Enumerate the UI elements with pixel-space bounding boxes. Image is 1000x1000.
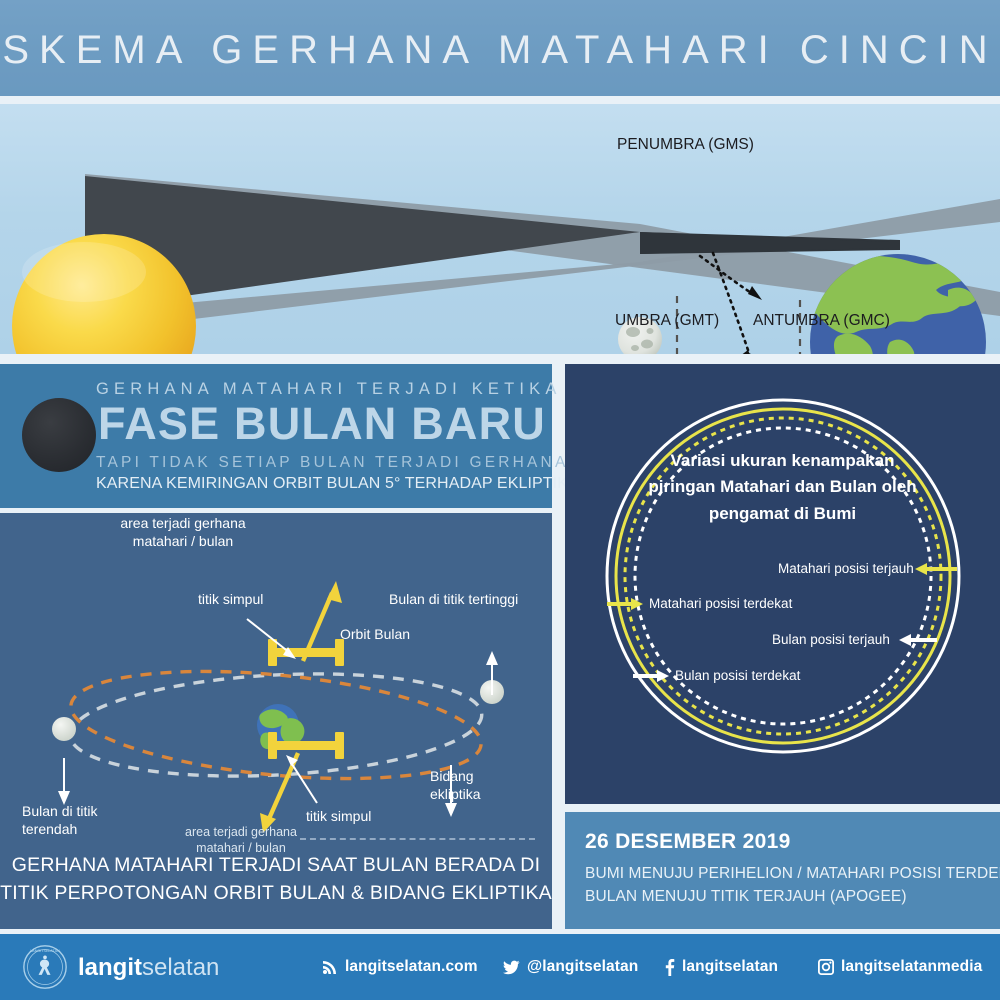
twitter-icon bbox=[503, 960, 520, 975]
footer-bar: LANGITSELATAN langitselatan langitselata… bbox=[0, 934, 1000, 1000]
label-ecliptic-plane: Bidang ekliptika bbox=[430, 768, 526, 803]
label-node-bottom: titik simpul bbox=[306, 808, 371, 826]
phase-eyebrow-text: GERHANA MATAHARI TERJADI KETIKA bbox=[96, 380, 546, 399]
instagram-icon bbox=[818, 959, 834, 975]
label-sun-nearest: Matahari posisi terdekat bbox=[649, 596, 792, 611]
header-band: SKEMA GERHANA MATAHARI CINCIN bbox=[0, 0, 1000, 96]
brand-bold: langit bbox=[78, 954, 142, 981]
rings-title: Variasi ukuran kenampakan piringan Matah… bbox=[605, 448, 960, 527]
event-date-panel: 26 DESEMBER 2019 BUMI MENUJU PERIHELION … bbox=[565, 812, 1000, 929]
eclipse-geometry-diagram: PENUMBRA (GMS) UMBRA (GMT) ANTUMBRA (GMC… bbox=[0, 104, 1000, 354]
moon-orbit-panel: area terjadi gerhana matahari / bulan ti… bbox=[0, 513, 552, 929]
event-date: 26 DESEMBER 2019 bbox=[585, 830, 791, 854]
logo-ring-text: LANGITSELATAN bbox=[30, 949, 60, 953]
node-bottom-leader bbox=[290, 761, 317, 803]
footer-link-website[interactable]: langitselatan.com bbox=[322, 958, 478, 976]
event-details: BUMI MENUJU PERIHELION / MATAHARI POSISI… bbox=[585, 862, 1000, 909]
new-moon-icon bbox=[22, 398, 96, 472]
orbit-divider bbox=[300, 838, 535, 840]
rings-svg bbox=[565, 364, 1000, 804]
moon-perigee-icon bbox=[52, 717, 76, 741]
infographic-page: SKEMA GERHANA MATAHARI CINCIN bbox=[0, 0, 1000, 1000]
label-penumbra: PENUMBRA (GMS) bbox=[617, 136, 754, 154]
label-moon-nearest: Bulan posisi terdekat bbox=[675, 668, 800, 683]
label-eclipse-area-top: area terjadi gerhana matahari / bulan bbox=[92, 515, 274, 550]
footer-link-instagram[interactable]: langitselatanmedia bbox=[818, 958, 982, 976]
label-moon-highest: Bulan di titik tertinggi bbox=[389, 591, 518, 609]
footer-link-twitter[interactable]: @langitselatan bbox=[503, 958, 638, 976]
brand-light: selatan bbox=[142, 954, 219, 981]
label-node-top: titik simpul bbox=[198, 591, 263, 609]
orbit-caption: GERHANA MATAHARI TERJADI SAAT BULAN BERA… bbox=[0, 851, 552, 908]
moon-apogee-arrowhead bbox=[486, 651, 498, 665]
phase-note: KARENA KEMIRINGAN ORBIT BULAN 5° TERHADA… bbox=[96, 475, 548, 493]
footer-link-facebook[interactable]: langitselatan bbox=[664, 958, 778, 976]
langitselatan-logo-icon[interactable]: LANGITSELATAN bbox=[22, 944, 68, 990]
footer-brand[interactable]: langitselatan bbox=[78, 954, 219, 982]
label-sun-farthest: Matahari posisi terjauh bbox=[778, 561, 914, 576]
penumbra-arrowhead-1 bbox=[748, 286, 762, 300]
label-moon-farthest: Bulan posisi terjauh bbox=[772, 632, 890, 647]
rss-icon bbox=[322, 959, 338, 975]
label-moon-lowest: Bulan di titik terendah bbox=[22, 803, 132, 838]
footer-link-twitter-label: @langitselatan bbox=[527, 958, 638, 976]
apparent-size-panel: Variasi ukuran kenampakan piringan Matah… bbox=[565, 364, 1000, 804]
phase-subtext: TAPI TIDAK SETIAP BULAN TERJADI GERHANA bbox=[96, 454, 546, 472]
label-umbra: UMBRA (GMT) bbox=[615, 312, 719, 330]
facebook-icon bbox=[664, 959, 675, 976]
label-moon-orbit: Orbit Bulan bbox=[340, 626, 410, 644]
phase-headline: FASE BULAN BARU bbox=[96, 400, 548, 447]
page-title: SKEMA GERHANA MATAHARI CINCIN bbox=[0, 28, 1000, 73]
footer-link-facebook-label: langitselatan bbox=[682, 958, 778, 976]
footer-link-instagram-label: langitselatanmedia bbox=[841, 958, 982, 976]
footer-link-website-label: langitselatan.com bbox=[345, 958, 478, 976]
sun-highlight bbox=[22, 242, 146, 302]
new-moon-phase-panel: GERHANA MATAHARI TERJADI KETIKA FASE BUL… bbox=[0, 364, 552, 508]
label-antumbra: ANTUMBRA (GMC) bbox=[753, 312, 890, 330]
ecliptic-plane-arrowhead bbox=[445, 803, 457, 817]
